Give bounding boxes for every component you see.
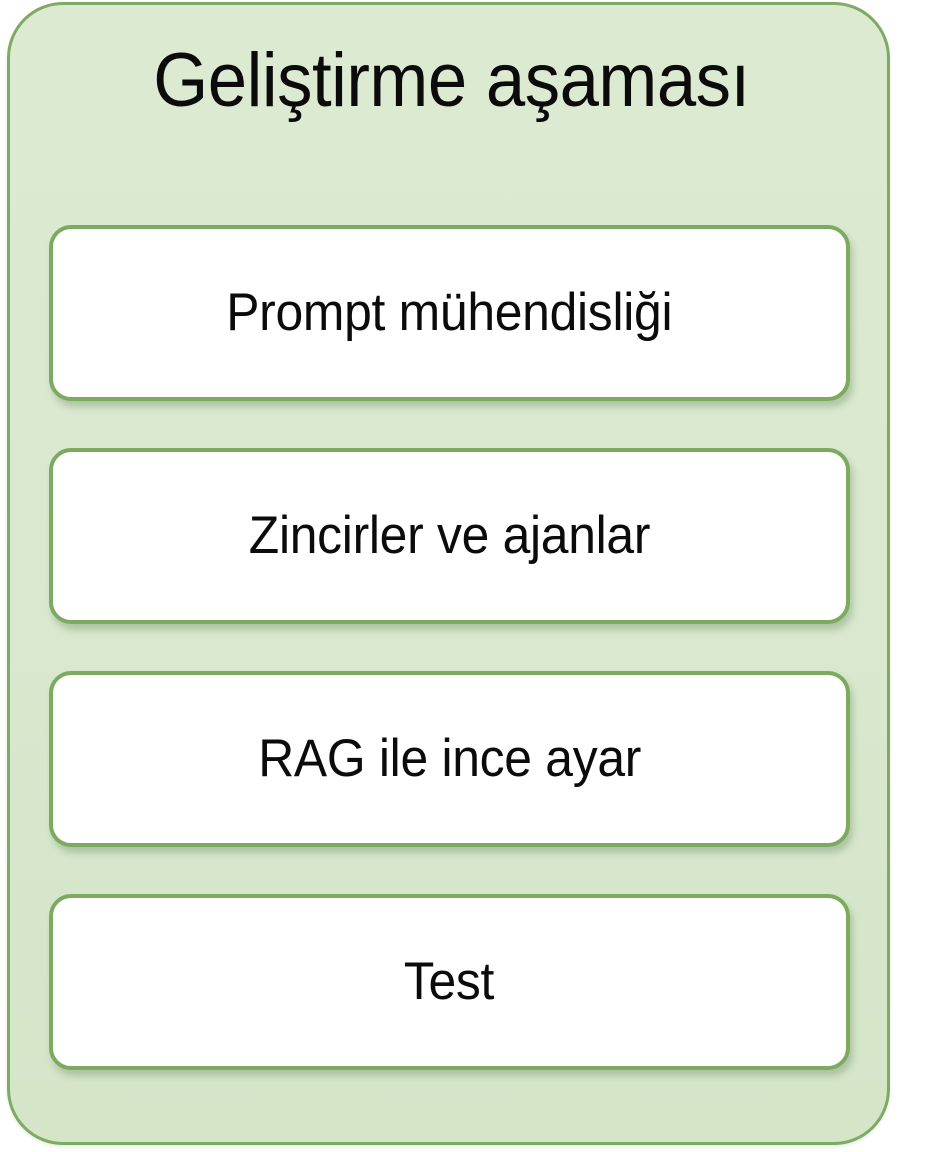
phase-step-label: Prompt mühendisliği [226, 283, 672, 343]
phase-step-label: RAG ile ince ayar [258, 729, 641, 789]
development-phase-panel: Geliştirme aşaması Prompt mühendisliği Z… [7, 2, 890, 1145]
phase-step-card[interactable]: RAG ile ince ayar [49, 671, 850, 847]
phase-step-label: Test [404, 952, 494, 1012]
phase-step-card[interactable]: Zincirler ve ajanlar [49, 448, 850, 624]
phase-step-label: Zincirler ve ajanlar [249, 506, 650, 566]
diagram-canvas: Geliştirme aşaması Prompt mühendisliği Z… [0, 0, 928, 1152]
phase-step-card[interactable]: Test [49, 894, 850, 1070]
page-title: Geliştirme aşaması [41, 35, 862, 127]
phase-step-card[interactable]: Prompt mühendisliği [49, 225, 850, 401]
phase-step-list: Prompt mühendisliği Zincirler ve ajanlar… [49, 225, 854, 1070]
